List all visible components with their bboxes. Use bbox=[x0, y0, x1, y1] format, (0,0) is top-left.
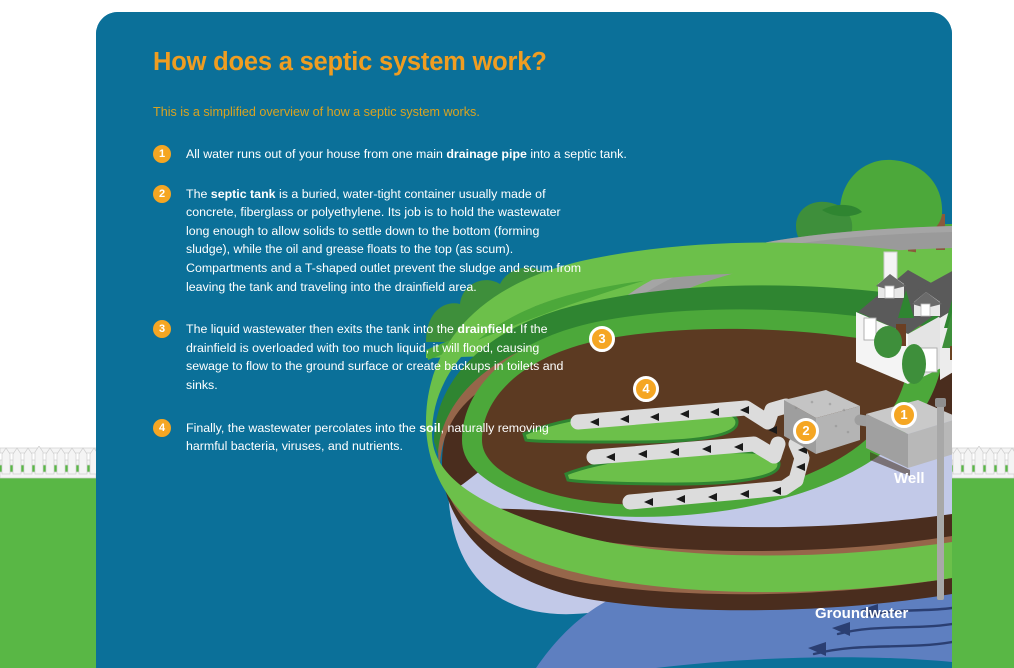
well-pipe-cap bbox=[935, 398, 946, 407]
infographic-card: 1 2 3 4 Well Groundwater How does a sept… bbox=[96, 12, 952, 668]
page-subtitle: This is a simplified overview of how a s… bbox=[153, 105, 583, 119]
step-text-2: The septic tank is a buried, water-tight… bbox=[186, 187, 581, 294]
step-text-4: Finally, the wastewater percolates into … bbox=[186, 421, 549, 454]
left-grass-strip bbox=[0, 460, 96, 668]
step-item-1: 1 All water runs out of your house from … bbox=[153, 145, 746, 164]
well-pipe-rod bbox=[937, 400, 944, 600]
step-badge-3: 3 bbox=[153, 320, 171, 338]
marker-4[interactable]: 4 bbox=[633, 376, 659, 402]
step-item-3: 3 The liquid wastewater then exits the t… bbox=[153, 320, 583, 394]
groundwater-label: Groundwater bbox=[815, 605, 908, 622]
step-text-3: The liquid wastewater then exits the tan… bbox=[186, 322, 563, 392]
text-column: How does a septic system work? This is a… bbox=[153, 48, 583, 475]
well-label: Well bbox=[894, 470, 925, 487]
marker-1[interactable]: 1 bbox=[891, 402, 917, 428]
page-title: How does a septic system work? bbox=[153, 48, 583, 77]
step-badge-1: 1 bbox=[153, 145, 171, 163]
step-badge-4: 4 bbox=[153, 419, 171, 437]
page-background: 1 2 3 4 Well Groundwater How does a sept… bbox=[0, 0, 1014, 668]
right-grass-strip bbox=[952, 460, 1014, 668]
step-badge-2: 2 bbox=[153, 185, 171, 203]
picket-fence-right bbox=[952, 446, 1014, 492]
picket-fence-left bbox=[0, 446, 96, 492]
marker-2[interactable]: 2 bbox=[793, 418, 819, 444]
marker-3[interactable]: 3 bbox=[589, 326, 615, 352]
step-item-4: 4 Finally, the wastewater percolates int… bbox=[153, 419, 583, 456]
step-text-1: All water runs out of your house from on… bbox=[186, 147, 627, 161]
step-item-2: 2 The septic tank is a buried, water-tig… bbox=[153, 185, 583, 297]
